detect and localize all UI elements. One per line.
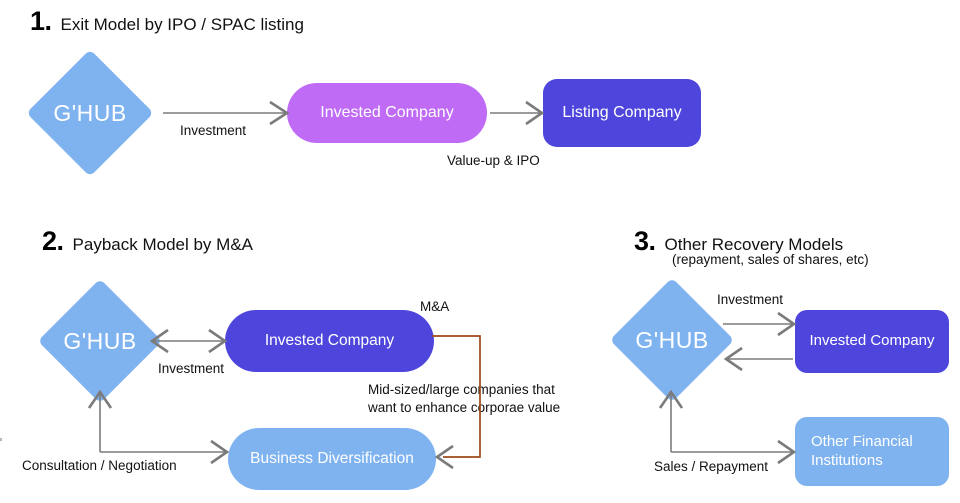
edge-artifact-speck xyxy=(0,438,2,441)
edge-label-valueup-ipo: Value-up & IPO xyxy=(447,153,540,168)
section-3-subtitle: (repayment, sales of shares, etc) xyxy=(672,252,869,267)
edge-label-consultation: Consultation / Negotiation xyxy=(22,458,177,473)
edge-label-ma: M&A xyxy=(420,299,449,314)
diagram-canvas: 1. Exit Model by IPO / SPAC listing G'HU… xyxy=(0,0,960,503)
section-1-number: 1. xyxy=(30,6,52,37)
node-ghub-3-label: G'HUB xyxy=(628,296,716,384)
connector-valueup-ipo xyxy=(490,102,542,124)
node-invested-company-2[interactable]: Invested Company xyxy=(225,310,434,372)
node-other-financial-institutions[interactable]: Other Financial Institutions xyxy=(795,417,949,486)
connector-return-3 xyxy=(726,348,793,370)
section-2-title: Payback Model by M&A xyxy=(73,235,253,255)
node-ghub-2-label: G'HUB xyxy=(56,297,144,385)
node-other-financial-institutions-line-2: Institutions xyxy=(811,452,883,471)
node-business-diversification[interactable]: Business Diversification xyxy=(228,428,436,490)
node-invested-company-1[interactable]: Invested Company xyxy=(287,83,487,143)
connector-investment-3 xyxy=(723,313,794,335)
note-midsized: Mid-sized/large companies that want to e… xyxy=(368,381,560,417)
connector-sales-repayment xyxy=(660,392,794,463)
section-3-number: 3. xyxy=(634,226,656,257)
note-midsized-line-1: Mid-sized/large companies that xyxy=(368,381,560,399)
node-listing-company[interactable]: Listing Company xyxy=(543,79,701,147)
edge-label-sales-repayment: Sales / Repayment xyxy=(654,459,768,474)
node-other-financial-institutions-line-1: Other Financial xyxy=(811,433,913,452)
section-1-heading: 1. Exit Model by IPO / SPAC listing xyxy=(30,6,304,37)
connector-consultation xyxy=(89,392,227,463)
node-invested-company-3[interactable]: Invested Company xyxy=(795,310,949,373)
note-midsized-line-2: want to enhance corporae value xyxy=(368,399,560,417)
section-2-heading: 2. Payback Model by M&A xyxy=(42,226,253,257)
connector-investment-2 xyxy=(152,330,225,352)
edge-label-investment-1: Investment xyxy=(180,123,246,138)
section-1-title: Exit Model by IPO / SPAC listing xyxy=(61,15,304,35)
node-ghub-1-label: G'HUB xyxy=(45,68,135,158)
edge-label-investment-2: Investment xyxy=(158,361,224,376)
section-2-number: 2. xyxy=(42,226,64,257)
connector-investment-1 xyxy=(163,102,287,124)
edge-label-investment-3: Investment xyxy=(717,292,783,307)
